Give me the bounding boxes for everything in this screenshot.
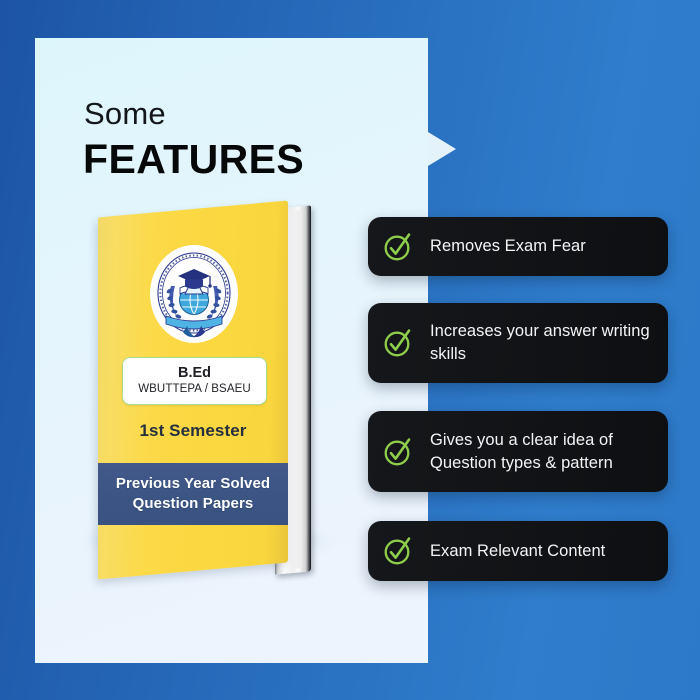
semester-label: 1st Semester [98, 421, 288, 441]
promo-graphic: Some FEATURES [0, 0, 700, 700]
page-subtitle: Some [84, 96, 166, 132]
feature-card[interactable]: Increases your answer writing skills [368, 303, 668, 383]
feature-card[interactable]: Exam Relevant Content [368, 521, 668, 581]
book-front-cover: B.Ed WBUTTEPA / BSAEU 1st Semester Previ… [98, 201, 288, 580]
degree-badge: B.Ed WBUTTEPA / BSAEU [122, 357, 267, 405]
feature-card[interactable]: Gives you a clear idea of Question types… [368, 411, 668, 492]
feature-text: Gives you a clear idea of Question types… [430, 429, 652, 475]
book-title-band: Previous Year Solved Question Papers [98, 463, 288, 525]
book-mockup: B.Ed WBUTTEPA / BSAEU 1st Semester Previ… [60, 195, 350, 595]
book-title-line1: Previous Year Solved [116, 474, 270, 494]
degree-label: B.Ed [178, 365, 211, 382]
feature-list: Removes Exam Fear Increases your answer … [368, 0, 670, 700]
feature-text: Exam Relevant Content [430, 540, 605, 563]
check-circle-icon [382, 436, 414, 468]
feature-text: Increases your answer writing skills [430, 320, 652, 366]
feature-text: Removes Exam Fear [430, 235, 586, 258]
university-emblem-icon [150, 245, 238, 343]
check-circle-icon [382, 327, 414, 359]
university-label: WBUTTEPA / BSAEU [138, 382, 251, 397]
check-circle-icon [382, 231, 414, 263]
feature-card[interactable]: Removes Exam Fear [368, 217, 668, 276]
check-circle-icon [382, 535, 414, 567]
book-title-line2: Question Papers [133, 494, 254, 514]
page-title: FEATURES [83, 136, 304, 183]
